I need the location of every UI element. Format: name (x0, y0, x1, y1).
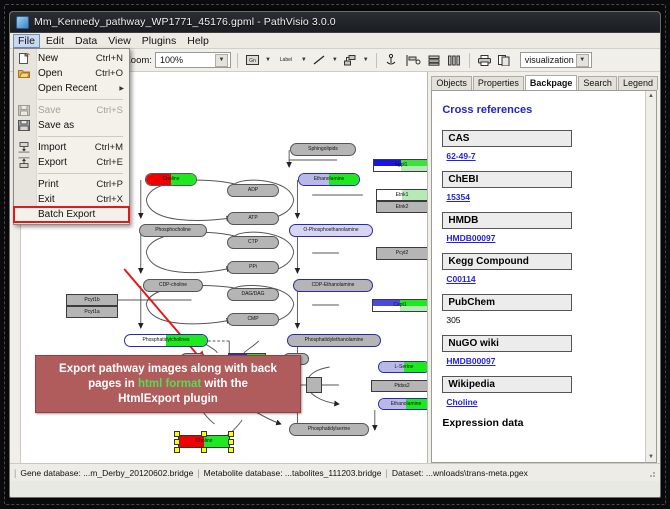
status-divider: | (14, 468, 16, 478)
pathway-node-choline-top[interactable]: Choline (145, 173, 197, 186)
side-panel: Objects Properties Backpage Search Legen… (428, 72, 660, 463)
menu-item-open-recent[interactable]: Open Recent ▶ (14, 81, 129, 96)
pathvisio-app-icon (16, 16, 29, 29)
xref-db-nugo-wiki: NuGO wiki (442, 335, 572, 352)
selection-handle[interactable] (201, 447, 207, 453)
callout-line-2-suffix: with the (201, 378, 248, 390)
xref-value-cas[interactable]: 62-49-7 (446, 151, 645, 161)
menu-item-save: Save Ctrl+S (14, 103, 129, 118)
xref-db-chebi: ChEBI (442, 171, 572, 188)
selection-handle[interactable] (228, 447, 234, 453)
menu-bar: File Edit Data View Plugins Help (10, 33, 660, 49)
xref-group-cas: CAS 62-49-7 (442, 130, 645, 161)
menu-plugins[interactable]: Plugins (137, 34, 181, 48)
backpage-panel: Cross references CAS 62-49-7 ChEBI 15354… (431, 90, 657, 463)
menu-view[interactable]: View (103, 34, 136, 48)
toolbar-separator (376, 53, 377, 68)
status-gene-database: Gene database: ...m_Derby_20120602.bridg… (20, 468, 193, 478)
label-button[interactable]: Label (275, 52, 297, 69)
menu-data[interactable]: Data (70, 34, 102, 48)
anchor-icon[interactable] (383, 52, 400, 69)
zoom-value: 100% (160, 55, 183, 65)
svg-text:Gn: Gn (249, 58, 256, 64)
interaction-dropdown-icon[interactable]: ▼ (362, 57, 370, 63)
label-dropdown-icon[interactable]: ▼ (300, 57, 308, 63)
pathway-node-pcyt1b[interactable]: Pcyt1b (66, 294, 118, 306)
menu-help[interactable]: Help (182, 34, 214, 48)
new-document-icon (18, 53, 30, 64)
copy-icon[interactable] (496, 52, 513, 69)
menu-item-open[interactable]: Open Ctrl+O (14, 66, 129, 81)
status-divider: | (386, 468, 388, 478)
xref-db-pubchem: PubChem (442, 294, 572, 311)
xref-db-wikipedia: Wikipedia (442, 376, 572, 393)
desktop-background: Mm_Kennedy_pathway_WP1771_45176.gpml - P… (0, 0, 670, 509)
pathway-node-pcyt2[interactable]: Pcyt2 (376, 247, 427, 260)
callout-line-3: HtmlExport plugin (118, 392, 218, 407)
pathway-node-ethanolamine-top[interactable]: Ethanolamine (298, 173, 360, 186)
pathway-node-ethanolamine-right[interactable]: Ethanolamine (378, 398, 427, 410)
xref-db-cas: CAS (442, 130, 572, 147)
pathway-node-adp[interactable]: ADP (227, 184, 279, 197)
pathway-node-phosphatidylcholines[interactable]: Phosphatidylcholines (124, 334, 208, 347)
xref-value-chebi[interactable]: 15354 (446, 192, 645, 202)
status-dataset: Dataset: ...wnloads\trans-meta.pgex (392, 468, 528, 478)
annotation-callout: Export pathway images along with back pa… (35, 355, 301, 413)
xref-group-kegg-compound: Kegg Compound C00114 (442, 253, 645, 284)
side-panel-tabs: Objects Properties Backpage Search Legen… (428, 72, 660, 90)
status-metabolite-database: Metabolite database: ...tabolites_111203… (204, 468, 382, 478)
menu-edit[interactable]: Edit (41, 34, 69, 48)
pathvisio-application-window: Mm_Kennedy_pathway_WP1771_45176.gpml - P… (9, 11, 661, 498)
datanode-dropdown-icon[interactable]: ▼ (264, 57, 272, 63)
status-bar: | Gene database: ...m_Derby_20120602.bri… (10, 463, 660, 481)
pathway-node-sgpl1[interactable]: Sgpl1 (373, 159, 427, 172)
cross-references-content: Cross references CAS 62-49-7 ChEBI 15354… (432, 91, 645, 462)
distribute-icon[interactable] (446, 52, 463, 69)
line-dropdown-icon[interactable]: ▼ (331, 57, 339, 63)
pathway-node-phosphatidylserine[interactable]: Phosphatidylserine (289, 423, 369, 436)
pathway-node-pcyt1a[interactable]: Pcyt1a (66, 306, 118, 318)
open-folder-icon (18, 68, 30, 79)
tab-properties[interactable]: Properties (473, 76, 524, 90)
xref-value-kegg-compound[interactable]: C00114 (446, 274, 645, 284)
line-icon[interactable] (311, 52, 328, 69)
callout-highlight-text: html format (138, 378, 201, 390)
menu-file[interactable]: File (13, 34, 40, 48)
menu-item-save-as[interactable]: Save as (14, 118, 129, 133)
selection-handle[interactable] (174, 439, 180, 445)
pathway-node-dag[interactable]: DAG/DAG (227, 288, 279, 301)
backpage-vertical-scrollbar[interactable]: ▲ ▼ (645, 91, 656, 462)
zoom-combobox[interactable]: 100% ▼ (155, 52, 231, 68)
tab-legend[interactable]: Legend (618, 76, 658, 90)
pathway-node-ptdss1[interactable] (306, 377, 322, 393)
pathway-node-cdp-choline[interactable]: CDP-choline (143, 279, 203, 292)
window-title: Mm_Kennedy_pathway_WP1771_45176.gpml - P… (34, 16, 336, 28)
visualization-combobox[interactable]: visualization ▼ (520, 52, 592, 68)
pathway-node-etnk1[interactable]: Etnk1 (376, 189, 427, 201)
pathway-node-etnk2[interactable]: Etnk2 (376, 201, 427, 213)
interaction-icon[interactable] (342, 52, 359, 69)
toolbar-separator (237, 53, 238, 68)
menu-item-print[interactable]: Print Ctrl+P (14, 177, 129, 192)
selection-handle[interactable] (174, 447, 180, 453)
xref-group-hmdb: HMDB HMDB00097 (442, 212, 645, 243)
xref-value-pubchem: 305 (446, 315, 645, 325)
stack-icon[interactable] (426, 52, 443, 69)
tab-search[interactable]: Search (578, 76, 617, 90)
datanode-icon[interactable]: Gn (244, 52, 261, 69)
pathway-node-ctp[interactable]: CTP (227, 236, 279, 249)
selection-handle[interactable] (174, 431, 180, 437)
selection-handle[interactable] (228, 431, 234, 437)
toolbar-separator (469, 53, 470, 68)
import-icon (18, 142, 30, 153)
chevron-down-icon[interactable]: ▼ (576, 54, 589, 67)
align-icon[interactable] (403, 52, 423, 69)
file-menu-dropdown[interactable]: New Ctrl+N Open Ctrl+O Open Recent ▶ Sav… (13, 48, 130, 225)
visualization-value: visualization (525, 55, 574, 65)
status-divider: | (197, 468, 199, 478)
pathway-node-ptdss2[interactable]: Ptdss2 (371, 380, 427, 392)
selection-handle[interactable] (201, 431, 207, 437)
menu-separator (38, 173, 123, 174)
cross-references-title: Cross references (442, 104, 645, 116)
menu-separator (38, 136, 123, 137)
xref-value-nugo-wiki[interactable]: HMDB00097 (446, 356, 645, 366)
print-icon[interactable] (476, 52, 493, 69)
pathway-node-sphingolipids[interactable]: Sphingolipids (290, 143, 356, 156)
xref-value-wikipedia[interactable]: Choline (446, 397, 645, 407)
chevron-down-icon[interactable]: ▼ (215, 54, 228, 67)
pathway-node-cmp[interactable]: CMP (227, 313, 279, 326)
pathway-node-ppi[interactable]: PPi (227, 261, 279, 274)
callout-line-2-prefix: pages in (88, 378, 138, 390)
xref-db-kegg-compound: Kegg Compound (442, 253, 572, 270)
scroll-up-icon[interactable]: ▲ (646, 91, 656, 101)
selection-handle[interactable] (228, 439, 234, 445)
xref-group-chebi: ChEBI 15354 (442, 171, 645, 202)
expression-data-title: Expression data (442, 417, 645, 429)
xref-group-pubchem: PubChem 305 (442, 294, 645, 325)
xref-value-hmdb[interactable]: HMDB00097 (446, 233, 645, 243)
pathway-node-phosphatidylethanolamine[interactable]: Phosphatidylethanolamine (287, 334, 381, 347)
pathway-node-cdp-ethanolamine[interactable]: CDP-Ethanolamine (293, 279, 373, 292)
save-as-icon (18, 120, 30, 131)
menu-item-new[interactable]: New Ctrl+N (14, 51, 129, 66)
callout-line-1: Export pathway images along with back (59, 362, 277, 377)
pathway-node-cept1[interactable]: Cept1 (372, 299, 427, 312)
title-bar: Mm_Kennedy_pathway_WP1771_45176.gpml - P… (10, 12, 660, 33)
scroll-down-icon[interactable]: ▼ (646, 452, 656, 462)
menu-item-import[interactable]: Import Ctrl+M (14, 140, 129, 155)
callout-line-2: pages in html format with the (88, 377, 248, 392)
pathway-node-l-serine[interactable]: L-Serine (378, 361, 427, 373)
pathway-node-atp[interactable]: ATP (227, 212, 279, 225)
menu-separator (38, 99, 123, 100)
save-disk-icon (18, 105, 30, 116)
pathway-node-o-phosphoethanolamine[interactable]: O-Phosphoethanolamine (289, 224, 373, 237)
submenu-arrow-icon: ▶ (119, 85, 129, 92)
resize-grip-icon[interactable] (646, 468, 656, 478)
xref-group-nugo-wiki: NuGO wiki HMDB00097 (442, 335, 645, 366)
tab-backpage[interactable]: Backpage (525, 75, 578, 91)
menu-item-exit[interactable]: Exit Ctrl+X (14, 192, 129, 207)
pathway-node-phosphocholine[interactable]: Phosphocholine (139, 224, 207, 237)
xref-group-wikipedia: Wikipedia Choline (442, 376, 645, 407)
export-icon (18, 157, 30, 168)
xref-db-hmdb: HMDB (442, 212, 572, 229)
tab-objects[interactable]: Objects (431, 76, 472, 90)
menu-item-export[interactable]: Export Ctrl+E (14, 155, 129, 170)
menu-item-batch-export[interactable]: Batch Export (14, 207, 129, 222)
